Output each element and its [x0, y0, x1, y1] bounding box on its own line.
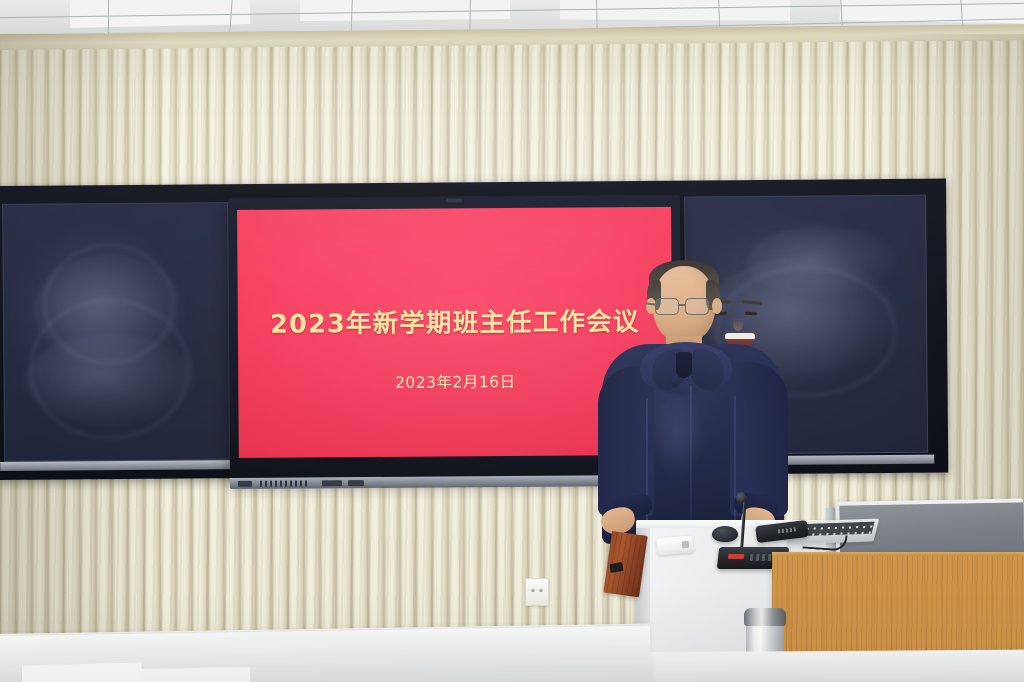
- glasses-lens-left: [655, 298, 679, 315]
- jacket-collar-gap: [676, 352, 692, 378]
- camera-icon: [446, 198, 462, 202]
- ear-right: [712, 298, 722, 314]
- speaker-person: [598, 258, 788, 548]
- jacket-highlight: [650, 398, 712, 518]
- display-port[interactable]: [348, 480, 364, 486]
- thermos-cap[interactable]: [744, 608, 786, 626]
- ceiling-tile: [560, 0, 790, 21]
- blackboard-left: [2, 202, 230, 462]
- glasses-lens-right: [685, 298, 709, 315]
- photo-scene: 2023年新学期班主任工作会议 2023年2月16日: [0, 0, 1024, 682]
- wall-power-socket[interactable]: [525, 578, 549, 606]
- socket-holes-icon: [531, 588, 544, 593]
- display-power-button[interactable]: [238, 481, 252, 487]
- teeth: [725, 333, 755, 339]
- display-control-buttons[interactable]: [260, 480, 308, 486]
- eye-right: [745, 312, 757, 316]
- glasses-bridge: [679, 304, 685, 306]
- microphone-head: [736, 492, 746, 503]
- chalk-smudge: [29, 298, 190, 439]
- microphone-indicator: [728, 554, 745, 559]
- display-port[interactable]: [322, 480, 342, 486]
- eyebrow-right: [742, 300, 762, 304]
- microphone-button[interactable]: [750, 554, 775, 561]
- white-device[interactable]: [656, 535, 693, 555]
- wood-grain: [772, 556, 1024, 662]
- paper-sheet[interactable]: [140, 667, 250, 682]
- computer-mouse[interactable]: [712, 526, 738, 542]
- paper-sheet[interactable]: [22, 662, 143, 682]
- nose: [733, 318, 743, 331]
- wood-panel: [772, 556, 1024, 662]
